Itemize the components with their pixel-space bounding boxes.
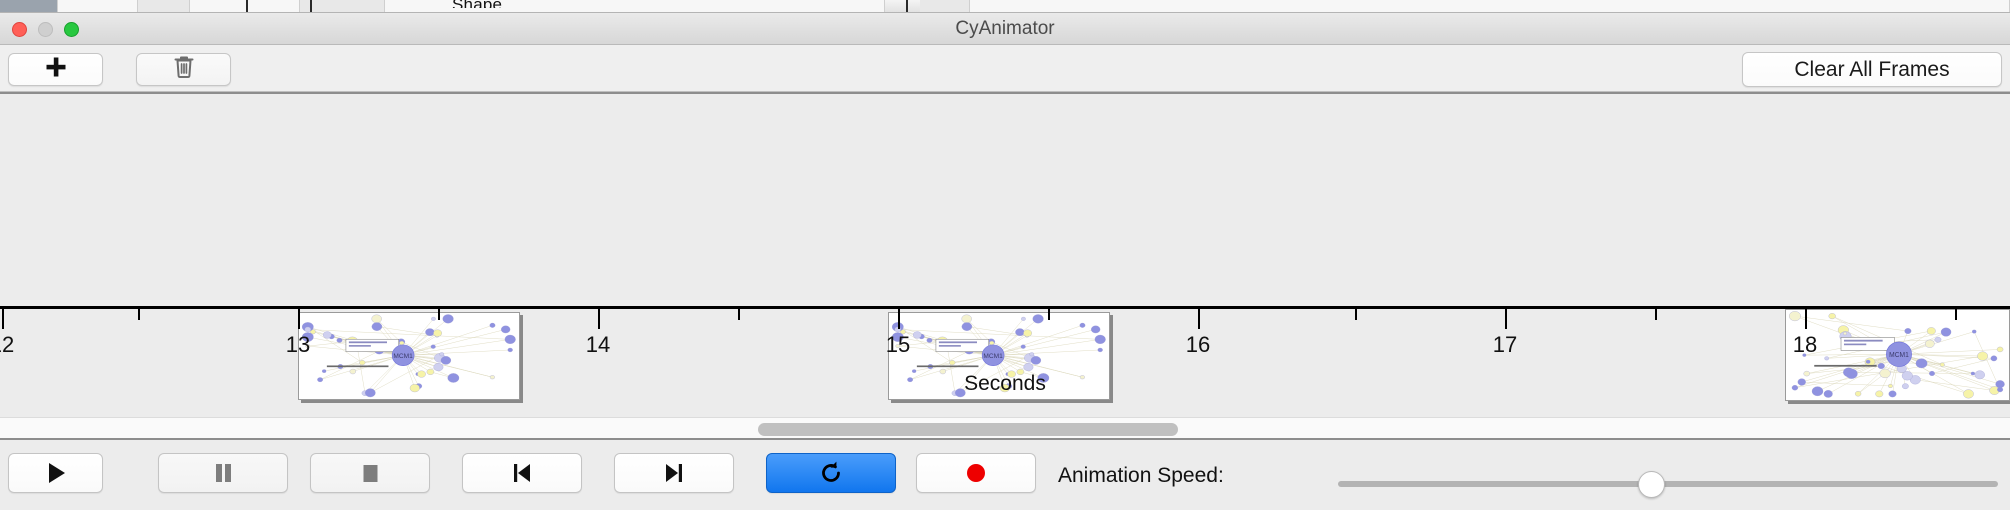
- axis-tick-major: [1805, 309, 1807, 329]
- timeline-panel: MCM1MCM1MCM1 12131415161718 Seconds: [0, 92, 2010, 417]
- axis-tick-minor: [438, 309, 440, 320]
- axis-title: Seconds: [0, 372, 2010, 396]
- skip-back-icon: [509, 460, 535, 486]
- bg-tick: [906, 0, 908, 13]
- bg-chunk: [300, 0, 385, 13]
- cyanimator-window: Shape CyAnimator: [0, 0, 2010, 510]
- frames-area[interactable]: MCM1MCM1MCM1: [0, 94, 2010, 417]
- trash-icon: [173, 55, 195, 84]
- axis-tick-minor: [1355, 309, 1357, 320]
- axis-tick-label: 18: [1775, 332, 1835, 358]
- axis-tick-label: 12: [0, 332, 32, 358]
- stop-icon: [357, 460, 383, 486]
- loop-button[interactable]: [766, 453, 896, 493]
- axis-tick-minor: [1655, 309, 1657, 320]
- record-icon: [963, 460, 989, 486]
- skip-forward-icon: [661, 460, 687, 486]
- axis-tick-major: [1505, 309, 1507, 329]
- pause-button: [158, 453, 288, 493]
- svg-text:MCM1: MCM1: [1889, 352, 1909, 359]
- axis-tick-major: [1198, 309, 1200, 329]
- playback-controls: Animation Speed:: [0, 442, 2010, 510]
- play-icon: [43, 460, 69, 486]
- toolbar: Clear All Frames: [0, 45, 2010, 92]
- bg-chunk: [190, 0, 300, 13]
- clear-all-frames-label: Clear All Frames: [1794, 58, 1949, 82]
- axis-tick-minor: [1048, 309, 1050, 320]
- axis-tick-minor: [1955, 309, 1957, 320]
- clear-all-frames-button[interactable]: Clear All Frames: [1742, 52, 2002, 87]
- background-window-title: Shape: [452, 0, 502, 8]
- animation-speed-slider[interactable]: [1338, 481, 1998, 487]
- plus-icon: [44, 55, 68, 84]
- stop-button: [310, 453, 430, 493]
- animation-speed-thumb[interactable]: [1638, 471, 1665, 498]
- loop-icon: [817, 459, 845, 487]
- axis-tick-minor: [138, 309, 140, 320]
- axis-tick-major: [2, 309, 4, 329]
- timeline-scrollbar[interactable]: [0, 417, 2010, 440]
- svg-text:MCM1: MCM1: [393, 353, 413, 360]
- title-bar: CyAnimator: [0, 13, 2010, 45]
- timeline-axis: [0, 306, 2010, 309]
- bg-tick: [246, 0, 248, 13]
- axis-tick-label: 17: [1475, 332, 1535, 358]
- delete-frame-button[interactable]: [136, 53, 231, 86]
- animation-speed-label: Animation Speed:: [1058, 464, 1224, 488]
- bg-chunk: [138, 0, 190, 13]
- axis-tick-label: 14: [568, 332, 628, 358]
- skip-to-end-button[interactable]: [614, 453, 734, 493]
- axis-tick-minor: [738, 309, 740, 320]
- skip-to-start-button[interactable]: [462, 453, 582, 493]
- scrollbar-thumb[interactable]: [758, 423, 1178, 436]
- svg-text:MCM1: MCM1: [983, 353, 1003, 360]
- play-button[interactable]: [8, 453, 103, 493]
- axis-tick-label: 15: [868, 332, 928, 358]
- bg-tick: [310, 0, 312, 13]
- bg-chunk: [58, 0, 138, 13]
- axis-tick-major: [598, 309, 600, 329]
- add-frame-button[interactable]: [8, 53, 103, 86]
- pause-icon: [210, 460, 236, 486]
- bg-chunk: [0, 0, 58, 13]
- bg-chunk: [970, 0, 2010, 13]
- bg-chunk: [920, 0, 970, 13]
- axis-tick-major: [298, 309, 300, 329]
- axis-tick-label: 16: [1168, 332, 1228, 358]
- axis-tick-major: [898, 309, 900, 329]
- axis-tick-label: 13: [268, 332, 328, 358]
- background-window-strip: Shape: [0, 0, 2010, 13]
- window-title: CyAnimator: [0, 18, 2010, 40]
- record-button[interactable]: [916, 453, 1036, 493]
